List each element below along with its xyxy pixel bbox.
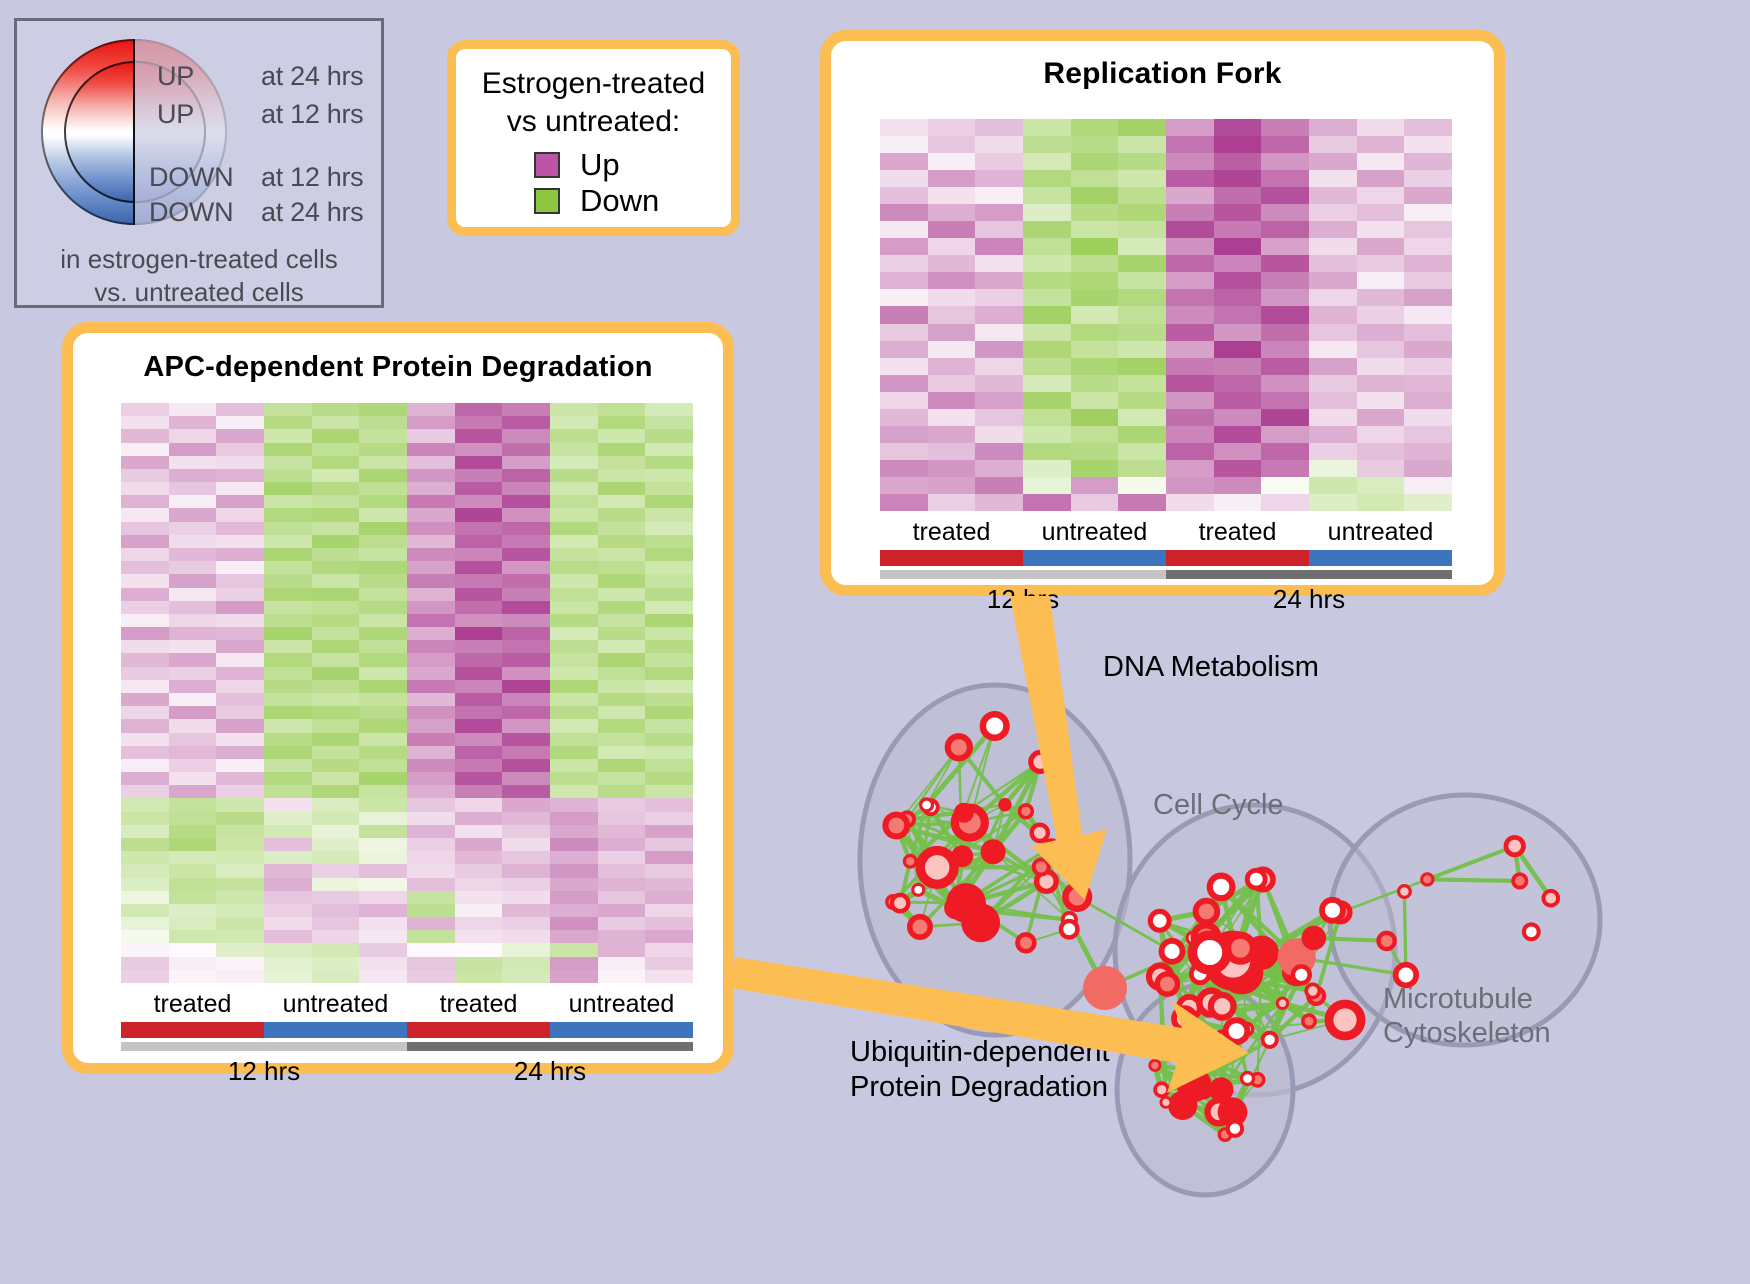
axis-time-label-1: 24 hrs (1166, 583, 1452, 615)
wheel-caption-line2: vs. untreated cells (17, 276, 381, 309)
network-node[interactable] (981, 839, 1006, 864)
wheel-time-up-12: at 12 hrs (261, 99, 363, 130)
network-node[interactable] (951, 845, 973, 867)
axis-group-label-3: untreated (550, 989, 693, 1019)
wheel-label-down-12: DOWN (149, 162, 233, 193)
network-node[interactable] (1293, 966, 1310, 983)
network-node[interactable] (961, 903, 1000, 942)
network-node[interactable] (1020, 805, 1033, 818)
network-node[interactable] (1155, 1083, 1168, 1096)
network-node[interactable] (954, 803, 974, 823)
axis-time-bar-0 (121, 1042, 407, 1051)
network-node[interactable] (1031, 752, 1050, 771)
axis-group-labels: treateduntreatedtreateduntreated (880, 517, 1452, 547)
network-svg (805, 620, 1750, 1279)
legend-item-up-label: Up (580, 149, 620, 181)
axis-group-label-0: treated (121, 989, 264, 1019)
network-node[interactable] (948, 736, 970, 758)
axis-time-bar-0 (880, 570, 1166, 579)
network-node[interactable] (1045, 840, 1058, 853)
pathway-network-diagram[interactable]: DNA Metabolism Cell Cycle Microtubule Cy… (805, 620, 1750, 1279)
network-node[interactable] (1544, 891, 1559, 906)
network-node[interactable] (1178, 1045, 1189, 1056)
panel-replication-fork-title: Replication Fork (831, 57, 1494, 91)
axis-group-label-1: untreated (264, 989, 407, 1019)
axis-apc-degradation: treateduntreatedtreateduntreated 12 hrs2… (121, 989, 693, 1087)
legend-title-line1: Estrogen-treated (456, 65, 731, 103)
axis-group-label-1: untreated (1023, 517, 1166, 547)
network-node[interactable] (1161, 1097, 1171, 1107)
network-node[interactable] (1211, 995, 1234, 1018)
network-node[interactable] (1277, 998, 1287, 1008)
network-node[interactable] (904, 856, 916, 868)
axis-group-bars (121, 1022, 693, 1038)
axis-group-bar-1 (1023, 550, 1166, 566)
network-node[interactable] (1034, 860, 1049, 875)
network-node[interactable] (1192, 935, 1227, 970)
cluster-label-ubiquitin-line1: Ubiquitin-dependent (850, 1035, 1110, 1069)
legend-title-line2: vs untreated: (456, 103, 731, 141)
wheel-caption-line1: in estrogen-treated cells (17, 243, 381, 276)
axis-group-bar-3 (550, 1022, 693, 1038)
network-node[interactable] (1083, 966, 1127, 1010)
network-node[interactable] (1174, 1008, 1195, 1029)
network-node[interactable] (1018, 934, 1035, 951)
wheel-caption: in estrogen-treated cells vs. untreated … (17, 243, 381, 309)
expression-colour-wheel-legend: UP at 24 hrs UP at 12 hrs DOWN at 12 hrs… (14, 18, 384, 308)
axis-group-bar-0 (880, 550, 1023, 566)
network-node[interactable] (1422, 874, 1433, 885)
legend-item-down-label: Down (580, 185, 659, 217)
axis-time-labels: 12 hrs24 hrs (121, 1055, 693, 1087)
network-node[interactable] (1226, 1020, 1248, 1042)
network-node[interactable] (1210, 876, 1233, 899)
axis-time-bar-1 (407, 1042, 693, 1051)
axis-time-labels: 12 hrs24 hrs (880, 583, 1452, 615)
network-node[interactable] (1061, 921, 1077, 937)
legend-item-down: Down (534, 183, 731, 219)
axis-group-bar-1 (264, 1022, 407, 1038)
network-node[interactable] (1247, 870, 1265, 888)
network-node[interactable] (1306, 984, 1319, 997)
cluster-label-cell-cycle: Cell Cycle (1153, 788, 1284, 822)
wheel-label-down-24: DOWN (149, 197, 233, 228)
axis-time-label-0: 12 hrs (880, 583, 1166, 615)
network-node[interactable] (1513, 874, 1526, 887)
panel-apc-degradation: APC-dependent Protein Degradation treate… (62, 322, 734, 1074)
heatmap-apc-degradation (121, 403, 693, 983)
network-node[interactable] (1150, 911, 1169, 930)
wheel-time-down-24: at 24 hrs (261, 197, 363, 228)
axis-group-label-2: treated (1166, 517, 1309, 547)
network-node[interactable] (892, 895, 908, 911)
legend-items: Up Down (456, 147, 731, 219)
axis-time-label-1: 24 hrs (407, 1055, 693, 1087)
network-node[interactable] (913, 884, 924, 895)
network-node[interactable] (1303, 1015, 1315, 1027)
network-node[interactable] (1524, 924, 1539, 939)
axis-group-bar-2 (1166, 550, 1309, 566)
network-node[interactable] (1032, 825, 1048, 841)
axis-replication-fork: treateduntreatedtreateduntreated 12 hrs2… (880, 517, 1452, 615)
network-node[interactable] (1263, 1033, 1277, 1047)
axis-group-bar-2 (407, 1022, 550, 1038)
network-node[interactable] (1242, 1073, 1254, 1085)
network-node[interactable] (944, 897, 967, 920)
network-node[interactable] (1379, 933, 1395, 949)
network-node[interactable] (1209, 1077, 1234, 1102)
network-node[interactable] (1322, 900, 1343, 921)
axis-group-label-3: untreated (1309, 517, 1452, 547)
cluster-label-microtubule-line1: Microtubule (1383, 982, 1533, 1016)
network-node[interactable] (998, 798, 1011, 811)
axis-time-bar-1 (1166, 570, 1452, 579)
panel-apc-title: APC-dependent Protein Degradation (73, 351, 723, 384)
network-node[interactable] (1399, 886, 1411, 898)
network-node[interactable] (920, 851, 954, 885)
axis-time-bars (880, 570, 1452, 579)
axis-group-bar-0 (121, 1022, 264, 1038)
wheel-time-up-24: at 24 hrs (261, 61, 363, 92)
network-node[interactable] (910, 917, 930, 937)
up-swatch-icon (534, 152, 560, 178)
network-node[interactable] (1196, 901, 1218, 923)
legend-item-up: Up (534, 147, 731, 183)
network-node[interactable] (1302, 926, 1327, 951)
cluster-label-ubiquitin-line2: Protein Degradation (850, 1070, 1108, 1104)
down-swatch-icon (534, 188, 560, 214)
network-node[interactable] (1228, 1122, 1242, 1136)
axis-group-label-0: treated (880, 517, 1023, 547)
panel-replication-fork: Replication Fork treateduntreatedtreated… (820, 30, 1505, 596)
network-node[interactable] (1506, 837, 1523, 854)
wheel-label-up-12: UP (157, 99, 194, 130)
axis-group-label-2: treated (407, 989, 550, 1019)
axis-group-bar-3 (1309, 550, 1452, 566)
network-node[interactable] (1157, 974, 1177, 994)
axis-time-label-0: 12 hrs (121, 1055, 407, 1087)
wheel-label-up-24: UP (157, 61, 194, 92)
up-down-legend-card: Estrogen-treated vs untreated: Up Down (447, 40, 740, 236)
cluster-label-microtubule-line2: Cytoskeleton (1383, 1016, 1551, 1050)
axis-group-bars (880, 550, 1452, 566)
axis-time-bars (121, 1042, 693, 1051)
wheel-time-down-12: at 12 hrs (261, 162, 363, 193)
network-node[interactable] (1162, 941, 1183, 962)
network-node[interactable] (1065, 885, 1089, 909)
cluster-label-dna-metabolism: DNA Metabolism (1103, 650, 1319, 684)
network-node[interactable] (921, 799, 933, 811)
legend-title: Estrogen-treated vs untreated: (456, 65, 731, 141)
network-node[interactable] (1329, 1004, 1361, 1036)
network-node[interactable] (885, 815, 907, 837)
network-node[interactable] (1150, 1060, 1160, 1070)
heatmap-replication-fork (880, 119, 1452, 511)
axis-group-labels: treateduntreatedtreateduntreated (121, 989, 693, 1019)
network-node[interactable] (983, 714, 1007, 738)
